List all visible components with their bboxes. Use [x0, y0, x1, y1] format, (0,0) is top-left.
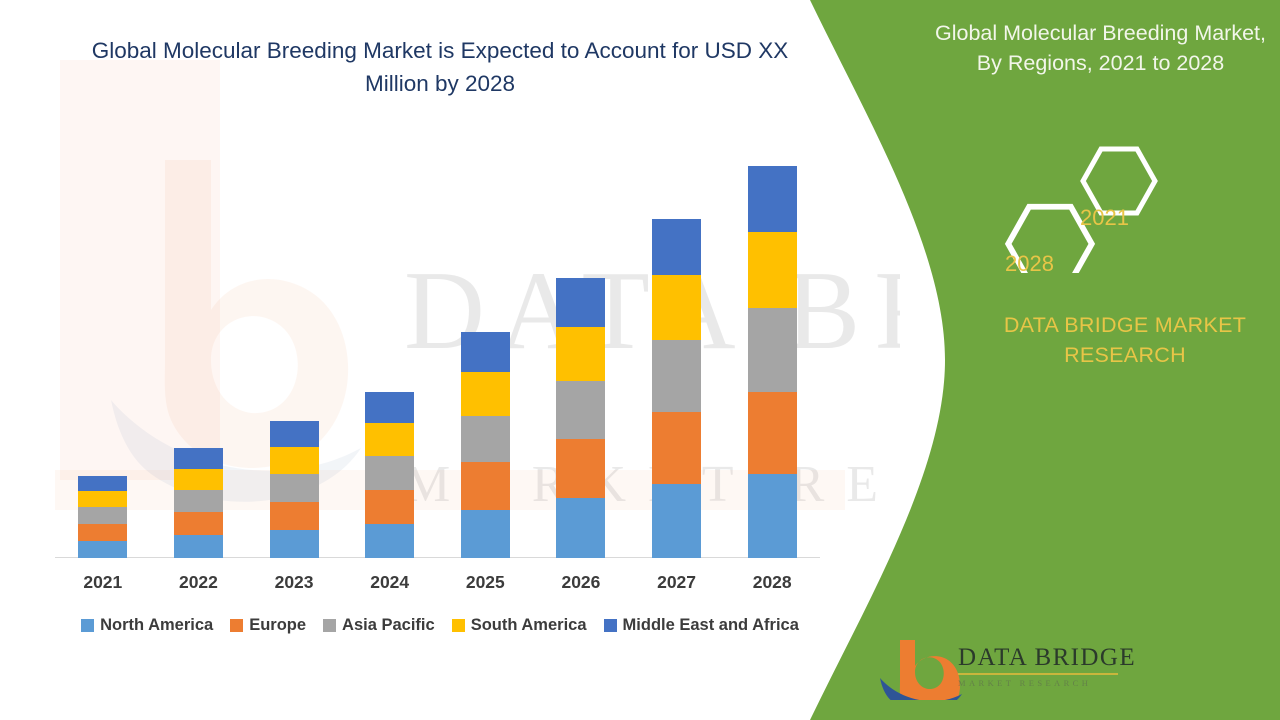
stacked-bar[interactable]: [748, 166, 797, 558]
bar-segment[interactable]: [174, 512, 223, 535]
bar-segment[interactable]: [365, 524, 414, 558]
x-axis-label: 2025: [438, 572, 534, 593]
bar-segment[interactable]: [748, 232, 797, 308]
bar-segment[interactable]: [365, 423, 414, 456]
chart-legend: North AmericaEuropeAsia PacificSouth Ame…: [55, 616, 825, 635]
bar-slot: [438, 160, 534, 558]
x-axis-label: 2023: [246, 572, 342, 593]
bar-segment[interactable]: [174, 448, 223, 468]
bar-segment[interactable]: [748, 392, 797, 474]
stacked-bar[interactable]: [461, 332, 510, 558]
bar-segment[interactable]: [270, 474, 319, 501]
bar-segment[interactable]: [556, 439, 605, 498]
legend-label: Europe: [249, 616, 306, 635]
bar-segment[interactable]: [461, 332, 510, 372]
x-axis-label: 2024: [342, 572, 438, 593]
legend-item[interactable]: North America: [81, 616, 213, 635]
bar-segment[interactable]: [270, 502, 319, 530]
x-axis-labels: 20212022202320242025202620272028: [55, 572, 820, 593]
x-axis-label: 2027: [629, 572, 725, 593]
legend-label: Middle East and Africa: [623, 616, 799, 635]
bar-segment[interactable]: [652, 275, 701, 340]
legend-label: North America: [100, 616, 213, 635]
legend-swatch-icon: [452, 619, 465, 632]
logo-subtitle: MARKET RESEARCH: [958, 678, 1138, 688]
x-axis-label: 2022: [151, 572, 247, 593]
bar-slot: [342, 160, 438, 558]
panel-brand-name: DATA BRIDGE MARKET RESEARCH: [960, 310, 1280, 370]
bar-segment[interactable]: [748, 474, 797, 558]
x-axis-label: 2026: [533, 572, 629, 593]
bar-segment[interactable]: [461, 462, 510, 509]
legend-label: Asia Pacific: [342, 616, 435, 635]
legend-item[interactable]: Europe: [230, 616, 306, 635]
bar-segment[interactable]: [461, 510, 510, 558]
legend-swatch-icon: [230, 619, 243, 632]
bar-segment[interactable]: [270, 447, 319, 474]
stacked-bar[interactable]: [174, 448, 223, 558]
bar-segment[interactable]: [270, 530, 319, 558]
bar-segment[interactable]: [78, 541, 127, 558]
bar-slot: [151, 160, 247, 558]
bar-segment[interactable]: [461, 416, 510, 462]
x-axis-label: 2028: [724, 572, 820, 593]
bar-segment[interactable]: [365, 456, 414, 490]
legend-item[interactable]: Asia Pacific: [323, 616, 435, 635]
legend-swatch-icon: [323, 619, 336, 632]
bar-segment[interactable]: [461, 372, 510, 416]
bar-segment[interactable]: [556, 278, 605, 326]
logo-text-block: DATA BRIDGE MARKET RESEARCH: [958, 644, 1138, 688]
bar-segment[interactable]: [174, 490, 223, 512]
legend-swatch-icon: [81, 619, 94, 632]
legend-label: South America: [471, 616, 587, 635]
bar-segment[interactable]: [174, 535, 223, 558]
bar-segment[interactable]: [78, 507, 127, 524]
stacked-bar[interactable]: [652, 219, 701, 558]
page-title: Global Molecular Breeding Market is Expe…: [60, 34, 820, 100]
legend-swatch-icon: [604, 619, 617, 632]
panel-title: Global Molecular Breeding Market, By Reg…: [928, 18, 1273, 78]
bar-segment[interactable]: [78, 524, 127, 541]
stacked-bar-chart: [55, 160, 820, 558]
stacked-bar[interactable]: [365, 392, 414, 558]
bar-slot: [629, 160, 725, 558]
x-axis-label: 2021: [55, 572, 151, 593]
hex-label-2021: 2021: [1080, 205, 1129, 231]
hex-label-2028: 2028: [1005, 251, 1054, 277]
bar-segment[interactable]: [270, 421, 319, 447]
stacked-bar[interactable]: [270, 421, 319, 558]
bar-segment[interactable]: [652, 340, 701, 411]
bar-slot: [724, 160, 820, 558]
bar-slot: [55, 160, 151, 558]
bar-segment[interactable]: [556, 498, 605, 558]
hexagon-badges: 2028 2021: [985, 143, 1175, 273]
bar-slot: [533, 160, 629, 558]
logo-title: DATA BRIDGE: [958, 644, 1138, 672]
legend-item[interactable]: Middle East and Africa: [604, 616, 799, 635]
bar-segment[interactable]: [748, 308, 797, 392]
bar-segment[interactable]: [652, 219, 701, 275]
bar-segment[interactable]: [78, 476, 127, 491]
bar-segment[interactable]: [652, 484, 701, 558]
bar-segment[interactable]: [748, 166, 797, 232]
stacked-bar[interactable]: [78, 476, 127, 558]
bar-segment[interactable]: [174, 469, 223, 491]
bar-segment[interactable]: [652, 412, 701, 485]
infographic-canvas: DATA BRIDGE MARKET RESEARCH Global Molec…: [0, 0, 1280, 720]
bar-segment[interactable]: [556, 327, 605, 382]
bar-segment[interactable]: [365, 490, 414, 525]
bar-segment[interactable]: [556, 381, 605, 439]
bar-segment[interactable]: [78, 491, 127, 508]
bar-segment[interactable]: [365, 392, 414, 423]
stacked-bar[interactable]: [556, 278, 605, 558]
legend-item[interactable]: South America: [452, 616, 587, 635]
bar-slot: [246, 160, 342, 558]
logo-rule: [958, 673, 1118, 675]
